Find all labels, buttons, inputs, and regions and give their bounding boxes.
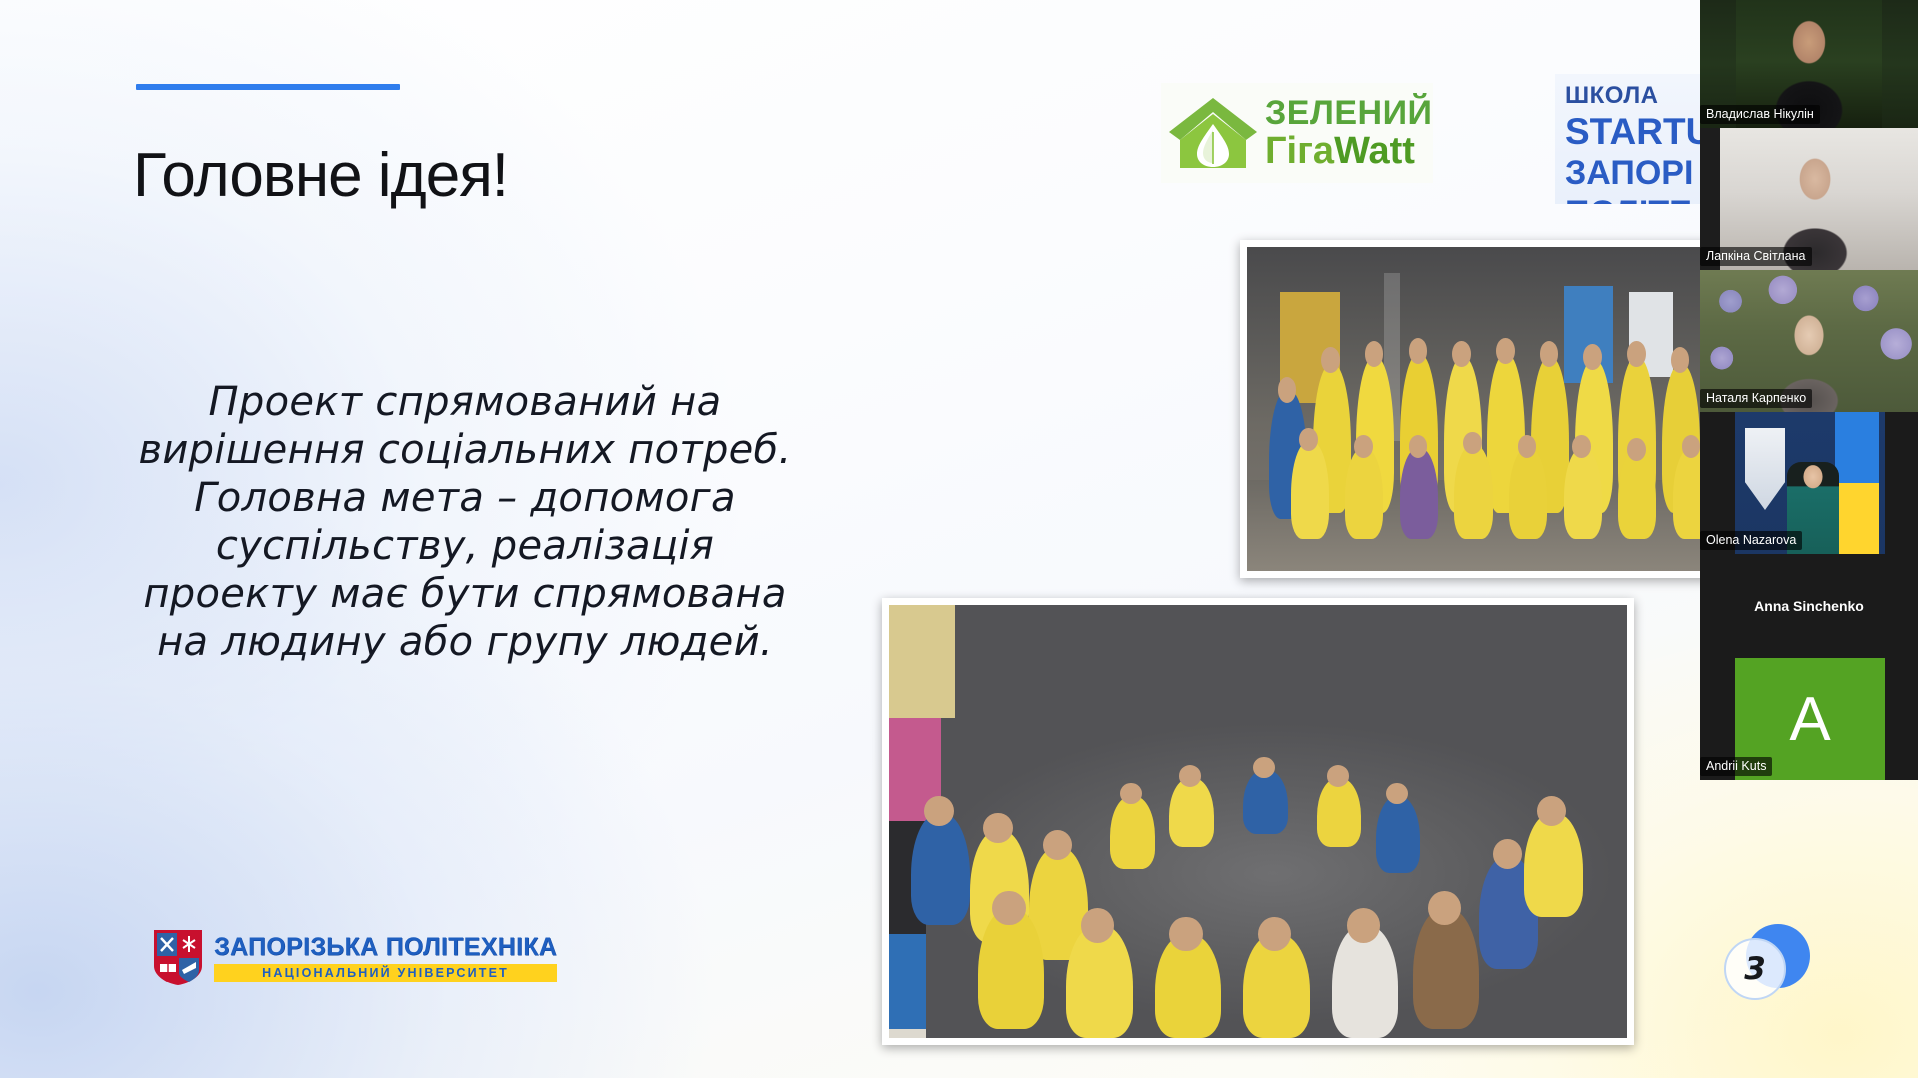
video-participant-rail[interactable]: Владислав Нікулін Лапкіна Світлана Натал… — [1700, 0, 1918, 780]
green-logo-text: ЗЕЛЕНИЙ ГігаWatt — [1265, 96, 1432, 170]
page-title: Головне ідея! — [133, 140, 508, 211]
green-house-leaf-icon — [1167, 94, 1259, 172]
university-subtitle: НАЦІОНАЛЬНИЙ УНІВЕРСИТЕТ — [214, 964, 557, 982]
participant-name: Наталя Карпенко — [1700, 389, 1812, 408]
participant-name: Olena Nazarova — [1700, 531, 1802, 550]
ukraine-flag-icon — [1835, 412, 1879, 554]
participant-tile-andrii-kuts[interactable]: A Andrii Kuts — [1700, 658, 1918, 780]
university-logo: ЗАПОРІЗЬКА ПОЛІТЕХНІКА НАЦІОНАЛЬНИЙ УНІВ… — [152, 928, 557, 986]
green-gigawatt-logo: ЗЕЛЕНИЙ ГігаWatt — [1161, 83, 1433, 183]
participant-name: Владислав Нікулін — [1700, 105, 1820, 124]
participant-name: Andrii Kuts — [1700, 757, 1772, 776]
participant-tile-vladyslav-nikulin[interactable]: Владислав Нікулін — [1700, 0, 1918, 128]
workshop-photo-content — [889, 605, 1627, 1038]
participant-tile-olena-nazarova[interactable]: Olena Nazarova — [1700, 412, 1918, 554]
body-line: вирішення соціальних потреб. — [120, 426, 810, 474]
slide-number: 3 — [1744, 951, 1766, 987]
body-line: Головна мета – допомога — [120, 474, 810, 522]
body-line: суспільству, реалізація — [120, 522, 810, 570]
green-logo-line2: ГігаWatt — [1265, 132, 1432, 170]
screen: Головне ідея! Проект спрямований на вирі… — [0, 0, 1918, 1078]
participant-name: Anna Sinchenko — [1700, 598, 1918, 614]
participant-name: Лапкіна Світлана — [1700, 247, 1812, 266]
green-logo-suffix: Watt — [1334, 130, 1415, 172]
institution-crest-icon — [1745, 428, 1785, 510]
workshop-photo-bottom — [882, 598, 1634, 1045]
participant-tile-anna-sinchenko[interactable]: Anna Sinchenko — [1700, 554, 1918, 658]
slide-number-badge: 3 — [1718, 920, 1814, 1012]
body-line: на людину або групу людей. — [120, 618, 810, 666]
body-line: Проект спрямований на — [120, 378, 810, 426]
body-line: проекту має бути спрямована — [120, 570, 810, 618]
title-accent-bar — [136, 84, 400, 90]
green-logo-prefix: Гіга — [1265, 130, 1334, 172]
participant-tile-lapkina-svitlana[interactable]: Лапкіна Світлана — [1700, 128, 1918, 270]
slide-body-text: Проект спрямований на вирішення соціальн… — [120, 378, 810, 666]
participant-tile-natalia-karpenko[interactable]: Наталя Карпенко — [1700, 270, 1918, 412]
presentation-slide: Головне ідея! Проект спрямований на вирі… — [0, 0, 1918, 1078]
green-logo-line1: ЗЕЛЕНИЙ — [1265, 96, 1432, 130]
university-logo-text: ЗАПОРІЗЬКА ПОЛІТЕХНІКА НАЦІОНАЛЬНИЙ УНІВ… — [214, 933, 557, 982]
university-name: ЗАПОРІЗЬКА ПОЛІТЕХНІКА — [214, 933, 557, 962]
university-crest-icon — [152, 928, 204, 986]
badge-front-circle: 3 — [1724, 938, 1786, 1000]
